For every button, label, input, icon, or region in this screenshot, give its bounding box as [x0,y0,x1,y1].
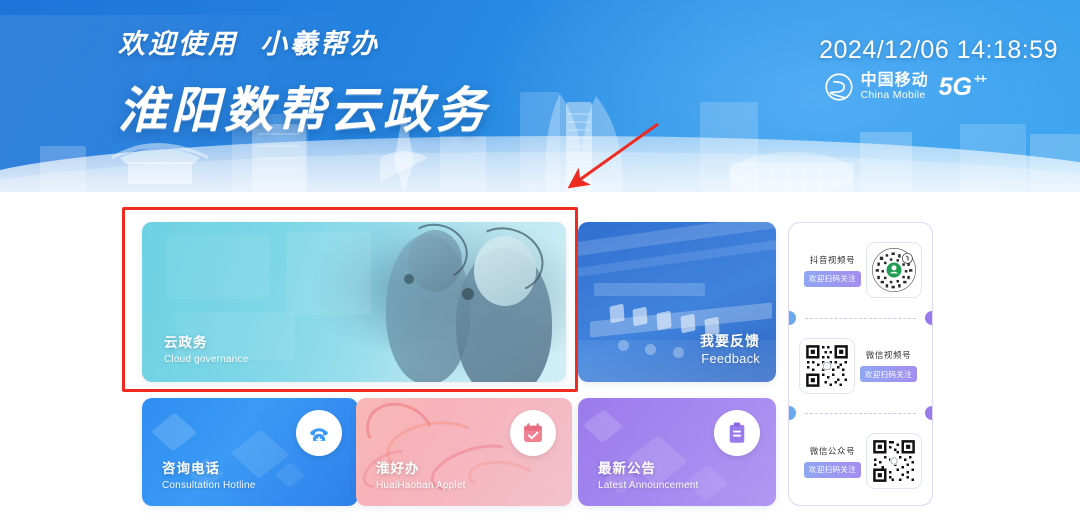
card-title-en: HuaiHaoban Applet [376,479,466,493]
card-title-en: Feedback [700,350,760,368]
qr-entry-badge: 欢迎扫码关注 [860,366,917,382]
assistant-name: 小羲帮办 [260,29,380,59]
card-title-cn: 我要反馈 [700,332,760,351]
card-applet-label: 淮好办 HuaiHaoban Applet [376,460,466,492]
china-mobile-logo-icon [824,72,854,102]
douyin-qr-code-icon[interactable] [866,242,922,298]
qr-entry-title: 微信公众号 [810,445,856,457]
wechat-channel-qr-code-icon[interactable] [799,338,855,394]
card-cloud-governance[interactable]: 云政务 Cloud governance [142,222,566,382]
banner-datetime: 2024/12/06 14:18:59 [819,36,1058,65]
card-title-cn: 云政务 [164,334,248,352]
card-announcement-label: 最新公告 Latest Announcement [598,460,699,492]
carrier-branding: 中国移动 China Mobile 5G ++ [824,72,972,102]
content-area: 云政务 Cloud governance 我要反馈 Feedback [0,192,1080,528]
carrier-name-en: China Mobile [861,90,929,101]
banner-main-title: 淮阳数帮云政务 [118,71,489,142]
qr-entry-text-group: 微信公众号 欢迎扫码关注 [799,445,866,478]
welcome-text: 欢迎使用 [118,29,238,59]
card-title-en: Consultation Hotline [162,479,256,493]
clipboard-icon [714,410,760,456]
card-title-cn: 咨询电话 [162,460,256,478]
banner-welcome-line: 欢迎使用小羲帮办 [118,22,489,61]
card-feedback[interactable]: 我要反馈 Feedback [578,222,776,382]
card-latest-announcement[interactable]: 最新公告 Latest Announcement [578,398,776,506]
card-feedback-label: 我要反馈 Feedback [700,332,760,368]
card-hotline-label: 咨询电话 Consultation Hotline [162,460,256,492]
card-consultation-hotline[interactable]: 咨询电话 Consultation Hotline [142,398,358,506]
banner-title-group: 欢迎使用小羲帮办 淮阳数帮云政务 [118,22,489,142]
qr-entry-text-group: 微信视频号 欢迎扫码关注 [855,349,922,382]
phone-icon [296,410,342,456]
qr-entry-title: 微信视频号 [866,349,912,361]
page-banner: 欢迎使用小羲帮办 淮阳数帮云政务 2024/12/06 14:18:59 中国移… [0,0,1080,192]
card-title-en: Cloud governance [164,353,248,367]
calendar-check-icon [510,410,556,456]
qr-entry-douyin[interactable]: 抖音视频号 欢迎扫码关注 [789,223,932,318]
card-title-cn: 最新公告 [598,460,699,478]
network-badge: 5G ++ [939,73,972,102]
carrier-name-cn: 中国移动 [861,73,929,89]
qr-entry-wechat-channel[interactable]: 微信视频号 欢迎扫码关注 [789,319,932,414]
card-cloud-governance-label: 云政务 Cloud governance [164,334,248,366]
qr-code-panel: 抖音视频号 欢迎扫码关注 [788,222,933,506]
qr-entry-badge: 欢迎扫码关注 [804,271,861,287]
wechat-official-qr-code-icon[interactable] [866,433,922,489]
qr-entry-badge: 欢迎扫码关注 [804,462,861,478]
network-badge-label: 5G [939,73,972,101]
card-title-en: Latest Announcement [598,479,699,493]
carrier-name-block: 中国移动 China Mobile [861,73,929,100]
qr-entry-wechat-official[interactable]: 微信公众号 欢迎扫码关注 [789,414,932,506]
qr-entry-text-group: 抖音视频号 欢迎扫码关注 [799,254,866,287]
network-badge-plus: ++ [974,71,985,86]
qr-entry-title: 抖音视频号 [810,254,856,266]
card-huaihaoban-applet[interactable]: 淮好办 HuaiHaoban Applet [356,398,572,506]
card-title-cn: 淮好办 [376,460,466,478]
